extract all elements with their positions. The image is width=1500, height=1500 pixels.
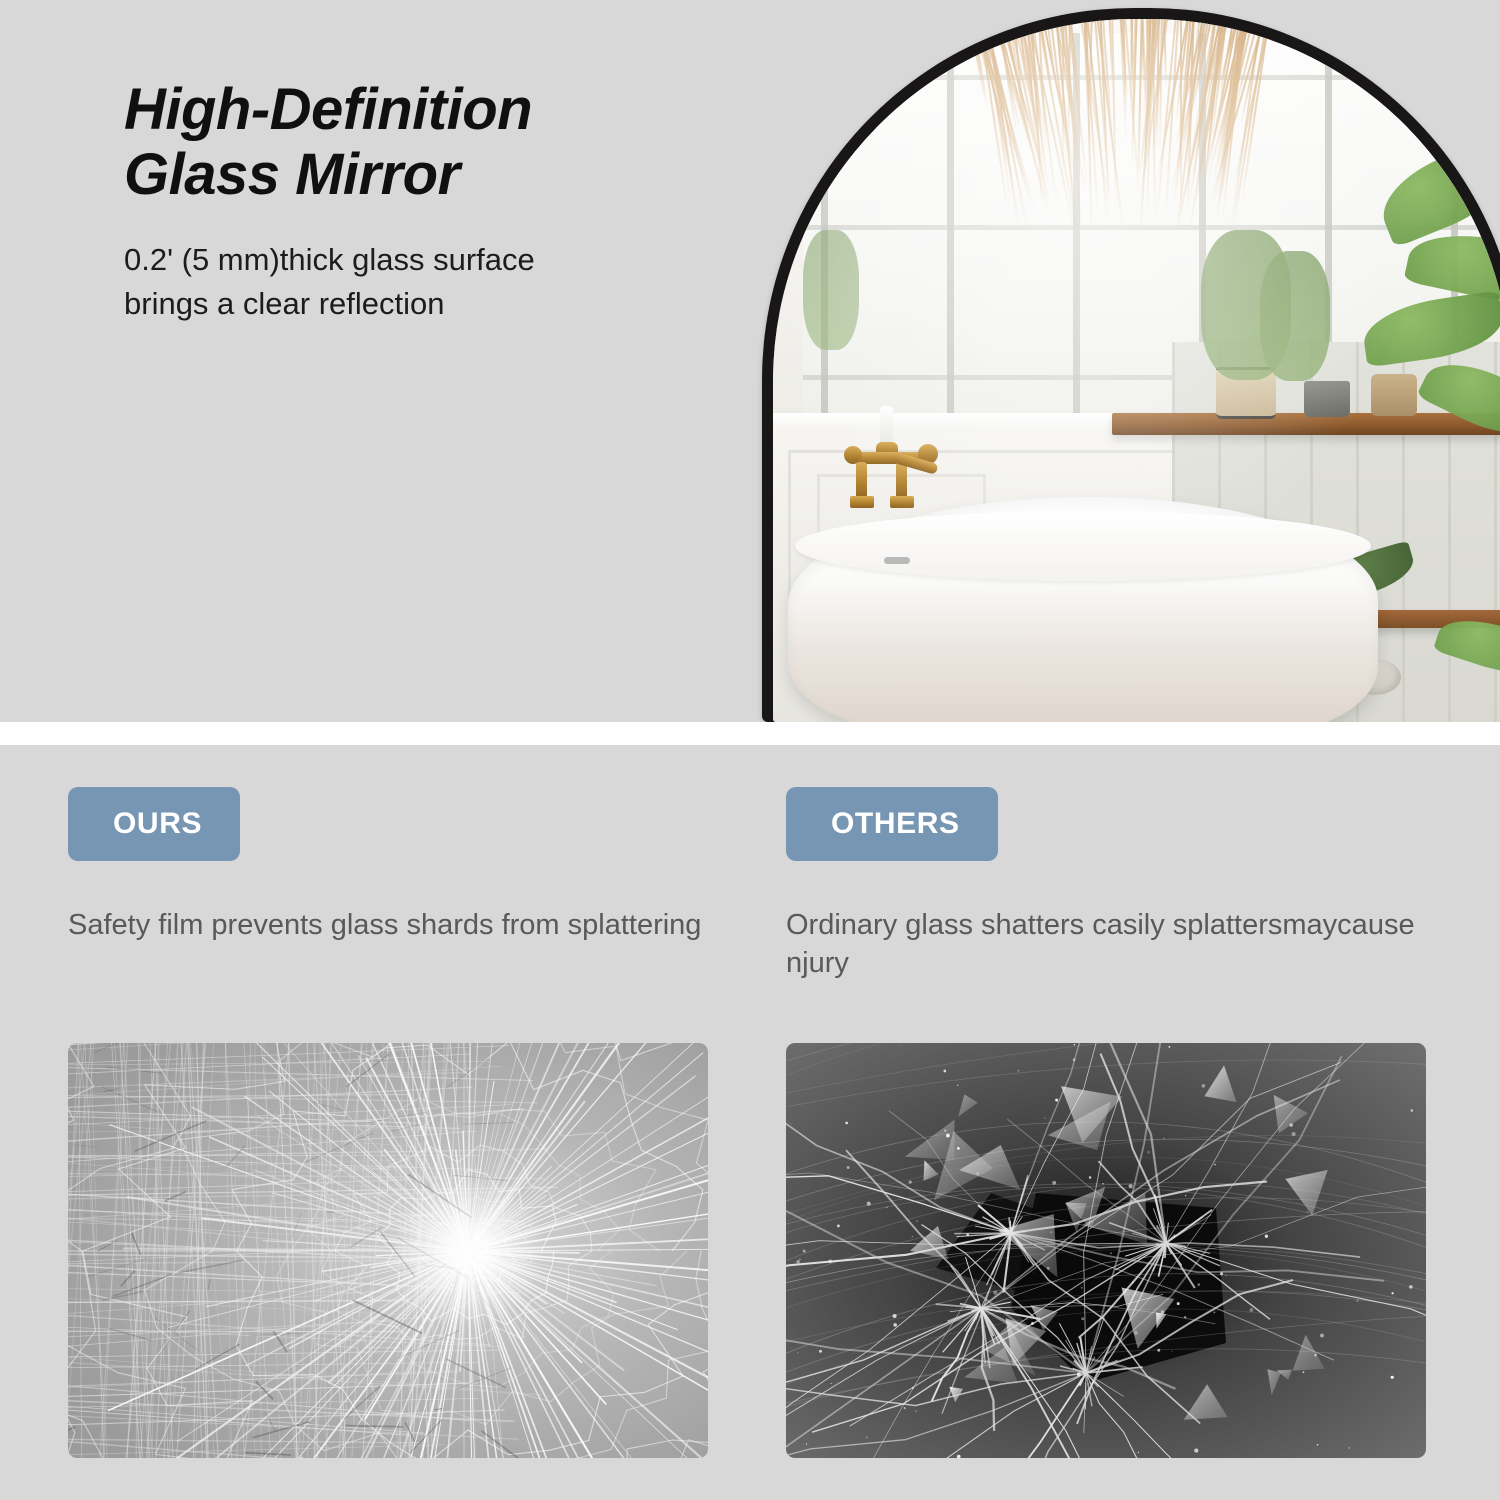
plant-pot-ceramic xyxy=(1304,381,1350,417)
page-title: High-Definition Glass Mirror xyxy=(124,78,724,208)
faucet-riser-left xyxy=(856,462,867,500)
foliage-grass xyxy=(803,230,859,350)
faucet-cross-handle-left xyxy=(844,446,862,464)
bathtub-overflow xyxy=(884,557,910,564)
image-ours-cracked-glass xyxy=(68,1043,708,1458)
column-ours: OURS Safety film prevents glass shards f… xyxy=(68,745,728,944)
bathtub-rim xyxy=(795,511,1371,581)
faucet-base-right xyxy=(890,496,914,508)
plant-pot-jute xyxy=(1371,374,1417,416)
hero-subtitle: 0.2' (5 mm)thick glass surface brings a … xyxy=(124,238,544,326)
section-divider xyxy=(0,722,1500,745)
shattered-glass-svg xyxy=(786,1043,1426,1458)
claim-ours: Safety film prevents glass shards from s… xyxy=(68,906,708,944)
image-others-shattered-glass xyxy=(786,1043,1426,1458)
rattan-pendant-light xyxy=(965,19,1275,237)
column-others: OTHERS Ordinary glass shatters casily sp… xyxy=(786,745,1446,983)
cracked-glass-svg xyxy=(68,1043,708,1458)
badge-others: OTHERS xyxy=(786,787,998,861)
faucet-riser-right xyxy=(896,462,907,500)
foliage-twig xyxy=(1260,251,1330,381)
claim-others: Ordinary glass shatters casily splatters… xyxy=(786,906,1426,983)
hero-copy: High-Definition Glass Mirror 0.2' (5 mm)… xyxy=(124,78,724,326)
badge-ours: OURS xyxy=(68,787,240,861)
product-mirror-image xyxy=(762,8,1500,722)
mirror-glass xyxy=(773,19,1500,722)
comparison-section: OURS Safety film prevents glass shards f… xyxy=(0,745,1500,1500)
bathroom-reflection-scene xyxy=(773,19,1500,722)
faucet-base-left xyxy=(850,496,874,508)
hero-section: High-Definition Glass Mirror 0.2' (5 mm)… xyxy=(0,0,1500,722)
brass-faucet xyxy=(836,406,956,516)
faucet-handle-porcelain xyxy=(880,406,893,446)
